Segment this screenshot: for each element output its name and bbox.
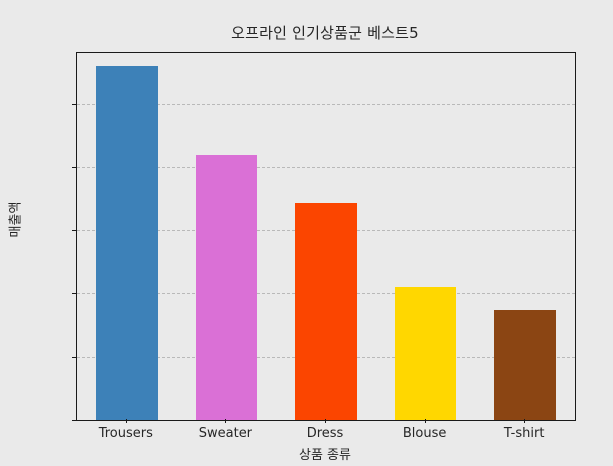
x-tick-label: Dress (307, 426, 344, 441)
x-tick-mark (325, 419, 326, 423)
x-tick-mark (225, 419, 226, 423)
plot-inner (77, 53, 575, 420)
x-tick-label: Trousers (99, 426, 153, 441)
bar-sweater (196, 155, 258, 420)
x-tick-label: Blouse (403, 426, 447, 441)
bar-chart-figure: 오프라인 인기상품군 베스트5 02004006008001000 매출액 Tr… (0, 0, 613, 466)
y-tick-mark (72, 167, 76, 168)
bar-t-shirt (494, 310, 556, 420)
x-tick-mark (524, 419, 525, 423)
x-tick-mark (126, 419, 127, 423)
y-axis-label: 매출액 (5, 140, 24, 300)
x-axis-label: 상품 종류 (76, 444, 574, 463)
bar-dress (295, 203, 357, 420)
bar-blouse (395, 287, 457, 420)
x-tick-mark (425, 419, 426, 423)
x-tick-label: T-shirt (504, 426, 545, 441)
y-tick-mark (72, 230, 76, 231)
y-tick-mark (72, 293, 76, 294)
x-axis-tick-labels: TrousersSweaterDressBlouseT-shirt (76, 426, 574, 446)
x-axis-tick-marks (76, 419, 574, 425)
bar-trousers (96, 66, 158, 420)
page-title: 오프라인 인기상품군 베스트5 (76, 22, 574, 43)
plot-area (76, 52, 576, 421)
y-tick-mark (72, 357, 76, 358)
x-tick-label: Sweater (199, 426, 252, 441)
y-tick-mark (72, 104, 76, 105)
